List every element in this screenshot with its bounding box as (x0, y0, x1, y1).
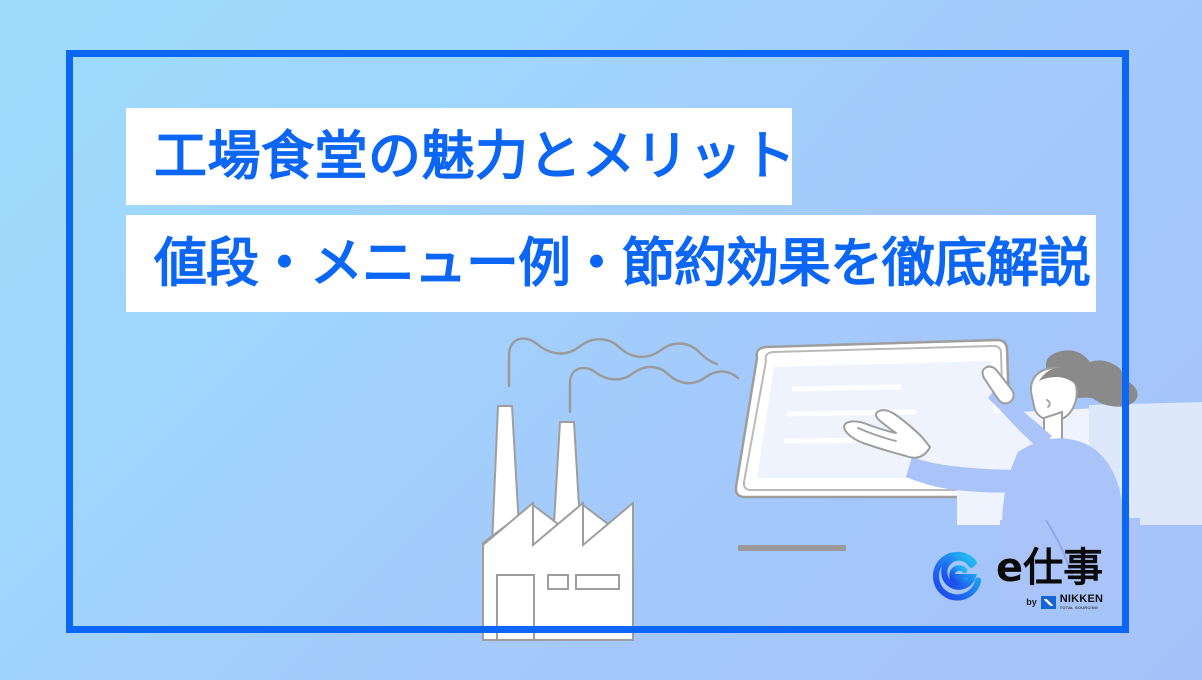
page-title-line1: 工場食堂の魅力とメリット (154, 130, 796, 183)
factory-illustration (483, 406, 633, 640)
nikken-badge-icon (1041, 596, 1056, 609)
title-box-line1: 工場食堂の魅力とメリット (126, 108, 792, 205)
gray-divider (738, 545, 846, 551)
brand-logo: e仕事 by NIKKEN TOTAL SOURCING (930, 548, 1130, 616)
title-box-line2: 値段・メニュー例・節約効果を徹底解説 (126, 215, 1096, 312)
star-rating-icon (855, 334, 985, 456)
logo-wordmark: e仕事 (996, 548, 1103, 588)
page-title-line2: 値段・メニュー例・節約効果を徹底解説 (154, 237, 1090, 290)
nikken-name-group: NIKKEN TOTAL SOURCING (1060, 594, 1103, 610)
nikken-brand-name: NIKKEN (1060, 594, 1103, 605)
tablet-screen-lines (786, 387, 914, 441)
logo-byline: by NIKKEN TOTAL SOURCING (1026, 594, 1103, 610)
logo-by-label: by (1026, 597, 1037, 607)
logo-text-group: e仕事 by NIKKEN TOTAL SOURCING (996, 548, 1103, 610)
article-thumbnail-banner: 工場食堂の魅力とメリット 値段・メニュー例・節約効果を徹底解説 e仕事 (0, 0, 1202, 680)
nikken-tagline: TOTAL SOURCING (1060, 606, 1103, 610)
e-shigoto-logo-icon (930, 548, 986, 604)
person-background-panel-2 (1089, 402, 1202, 525)
tablet-illustration (736, 340, 1012, 497)
person-background-panel (957, 405, 1160, 525)
smoke-waves (509, 339, 738, 412)
